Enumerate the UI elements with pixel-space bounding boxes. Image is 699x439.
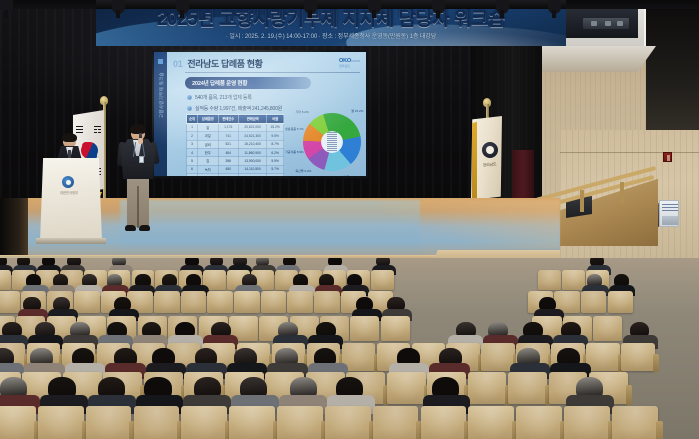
table-cell: 녹차 — [198, 165, 218, 173]
wall-notice-sign — [659, 200, 679, 227]
auditorium-seat — [608, 291, 634, 313]
slide-bullet: 540개 품목, 213개 업체 등록 — [187, 94, 282, 101]
name-badge — [139, 156, 144, 163]
auditorium-seat — [593, 316, 622, 341]
auditorium-seat — [234, 291, 260, 313]
auditorium-seat — [373, 406, 419, 439]
institution-emblem-icon — [482, 142, 498, 158]
auditorium-seat — [0, 291, 20, 313]
slide-bullet-text: 540개 품목, 213개 업체 등록 — [195, 94, 252, 101]
wall-seam-line — [560, 152, 699, 153]
table-cell: 1 — [187, 123, 198, 131]
banner-clamp — [0, 0, 13, 14]
table-cell: 741 — [218, 132, 238, 140]
banner-clamp — [176, 0, 189, 14]
table-cell: 15,210,400 — [238, 140, 266, 148]
emergency-light-icon — [663, 152, 672, 162]
slide-header: 01 전라남도 답례품 현황 — [173, 57, 360, 70]
banner-clamp — [368, 0, 381, 14]
table-cell: 1,176 — [218, 123, 238, 131]
table-row: 3굴비52115,210,4008.7% — [187, 140, 284, 148]
table-cell: 5.9% — [267, 157, 284, 165]
stage-left-shadow — [0, 198, 28, 260]
institution-flag: 전라남도 — [470, 112, 504, 212]
table-cell: 484 — [218, 148, 238, 156]
auditorium-seat — [287, 291, 313, 313]
table-row: 4한우48411,860,9006.2% — [187, 148, 284, 156]
pie-chart-center-label — [303, 113, 361, 171]
presenter-with-microphone — [118, 126, 158, 242]
table-cell: 9.5% — [267, 132, 284, 140]
booth-soffit — [524, 46, 656, 72]
table-cell: 20,821,000 — [238, 123, 266, 131]
slide-bullet-text: 실적등 수량 1,997건, 매출액 241,245,800원 — [195, 105, 282, 112]
table-cell: 2 — [187, 132, 198, 140]
banner-clamp — [496, 0, 509, 14]
auditorium-seat — [612, 406, 658, 439]
pie-slice-label: 기타 5.2% — [296, 110, 309, 114]
right-dark-recess — [646, 0, 699, 150]
table-cell: 3 — [187, 140, 198, 148]
table-cell: 7 — [187, 174, 198, 176]
auditorium-seat — [621, 343, 654, 371]
slide-section-pill: 2024년 답례품 운영 현황 — [185, 77, 311, 89]
auditorium-seat — [421, 406, 467, 439]
flag-gold-band — [472, 120, 477, 204]
banner-clamp — [304, 0, 317, 14]
table-cell: 521 — [218, 140, 238, 148]
table-cell: 15.2% — [267, 123, 284, 131]
auditorium-seat — [325, 406, 371, 439]
slide-pie-chart: 쌀 15.2%과일 9.5%수산물 8.7%축산물 6.2%가공식품 5.9%생… — [285, 110, 366, 176]
seat-armrest — [656, 421, 663, 439]
bullet-dot-icon — [187, 95, 192, 100]
audience-seating — [0, 258, 699, 439]
auditorium-seat — [261, 291, 287, 313]
table-cell: 한우 — [198, 148, 218, 156]
auditorium-seat — [277, 406, 323, 439]
table-cell: 396 — [218, 157, 238, 165]
auditorium-seat — [387, 372, 426, 404]
slide-data-table: 순위답례품명판매건수판매금액비율 1쌀1,17620,821,00015.2%2… — [186, 114, 284, 176]
table-row: 1쌀1,17620,821,00015.2% — [187, 123, 284, 131]
auditorium-photo: 2025년 고향사랑기부제 지자체 담당자 워크숍 · 일시 : 2025. 2… — [0, 0, 699, 439]
table-row: 5김39613,900,0005.9% — [187, 157, 284, 165]
auditorium-seat — [564, 406, 610, 439]
table-cell: 450 — [218, 165, 238, 173]
auditorium-seat — [586, 343, 619, 371]
slide-content: 01 전라남도 답례품 현황 OKOkorea 전라남도 2024년 답례품 운… — [167, 52, 366, 176]
pie-slice-label: 수산물 8.7% — [341, 175, 357, 176]
table-column-header: 답례품명 — [198, 115, 218, 124]
auditorium-seat — [538, 270, 561, 290]
booth-audio-equipment — [583, 18, 629, 29]
banner-subtitle: · 일시 : 2025. 2. 19.(수) 14:00-17:00 · 장소 … — [96, 31, 566, 40]
auditorium-seat — [154, 291, 180, 313]
table-row: 7매생이45113,365,1005.2% — [187, 174, 284, 176]
table-cell: 13,900,000 — [238, 157, 266, 165]
government-emblem-icon — [62, 176, 74, 188]
table-cell: 8.7% — [267, 140, 284, 148]
auditorium-seat — [86, 406, 132, 439]
projection-screen: 고향사랑기부제 워크숍 01 전라남도 답례품 현황 OKOkorea 전라남도… — [152, 50, 368, 178]
auditorium-seat — [74, 291, 100, 313]
pie-slice-label: 생활용품 5.7% — [285, 127, 304, 131]
auditorium-seat — [0, 270, 11, 290]
slide-bullet: 실적등 수량 1,997건, 매출액 241,245,800원 — [187, 105, 282, 112]
table-column-header: 판매금액 — [238, 115, 266, 124]
slide-title-rule — [185, 72, 360, 73]
auditorium-seat — [381, 316, 410, 341]
table-cell: 24,521,300 — [238, 132, 266, 140]
table-cell: 4 — [187, 148, 198, 156]
flag-cloth: 전라남도 — [471, 116, 502, 200]
auditorium-seat — [181, 291, 207, 313]
lectern-base — [36, 238, 106, 244]
auditorium-seat — [468, 372, 507, 404]
slide-org-logo: OKOkorea 전라남도 — [339, 58, 360, 68]
table-cell: 6.2% — [267, 148, 284, 156]
auditorium-seat — [581, 291, 607, 313]
table-cell: 13,365,100 — [238, 174, 266, 176]
auditorium-seat — [508, 372, 547, 404]
auditorium-seat — [350, 316, 379, 341]
table-column-header: 판매건수 — [218, 115, 238, 124]
table-cell: 굴비 — [198, 140, 218, 148]
auditorium-seat — [516, 406, 562, 439]
slide-bullet-list: 540개 품목, 213개 업체 등록 실적등 수량 1,997건, 매출액 2… — [187, 94, 282, 115]
banner-clamp — [432, 0, 445, 14]
seat-armrest — [626, 385, 632, 405]
table-cell: 쌀 — [198, 123, 218, 131]
pie-slice-label: 가공식품 5.9% — [285, 150, 304, 154]
banner-clamp — [548, 0, 561, 14]
slide-title: 전라남도 답례품 현황 — [187, 57, 262, 70]
seat-armrest — [653, 354, 658, 371]
pie-slice-label: 쌀 15.2% — [351, 109, 363, 113]
auditorium-seat — [468, 406, 514, 439]
auditorium-seat — [134, 406, 180, 439]
table-cell: 5 — [187, 157, 198, 165]
table-cell: 매생이 — [198, 174, 218, 176]
lectern — [40, 158, 102, 242]
table-cell: 5.7% — [267, 165, 284, 173]
table-row: 2과일74124,521,3009.5% — [187, 132, 284, 140]
stage-floor-warm-reflection — [380, 200, 560, 248]
table-column-header: 순위 — [187, 115, 198, 124]
flag-text: 전라남도 — [478, 161, 501, 175]
table-cell: 6 — [187, 165, 198, 173]
auditorium-seat — [229, 406, 275, 439]
auditorium-seat — [314, 291, 340, 313]
bullet-dot-icon — [187, 106, 192, 111]
auditorium-seat — [38, 406, 84, 439]
table-cell: 14,110,500 — [238, 165, 266, 173]
table-cell: 김 — [198, 157, 218, 165]
lectern-label: 대한민국정부 — [52, 190, 86, 195]
table-row: 6녹차45014,110,5005.7% — [187, 165, 284, 173]
table-cell: 451 — [218, 174, 238, 176]
banner-clamp — [112, 0, 125, 14]
presentation-slide: 고향사랑기부제 워크숍 01 전라남도 답례품 현황 OKOkorea 전라남도… — [154, 52, 366, 176]
slide-side-tab-label: 고향사랑기부제 워크숍 — [159, 69, 165, 121]
table-cell: 과일 — [198, 132, 218, 140]
slide-number: 01 — [173, 59, 182, 69]
table-header-row: 순위답례품명판매건수판매금액비율 — [187, 115, 284, 124]
table-cell: 5.2% — [267, 174, 284, 176]
auditorium-seat — [0, 406, 36, 439]
table-cell: 11,860,900 — [238, 148, 266, 156]
auditorium-seat — [371, 270, 394, 290]
auditorium-seat — [207, 291, 233, 313]
slide-section-label: 2024년 답례품 운영 현황 — [192, 79, 247, 87]
table-column-header: 비율 — [267, 115, 284, 124]
stage-floor-reflection — [120, 200, 420, 258]
auditorium-seat — [181, 406, 227, 439]
auditorium-seat — [562, 270, 585, 290]
pie-slice-label: 축산물 6.2% — [295, 169, 311, 173]
